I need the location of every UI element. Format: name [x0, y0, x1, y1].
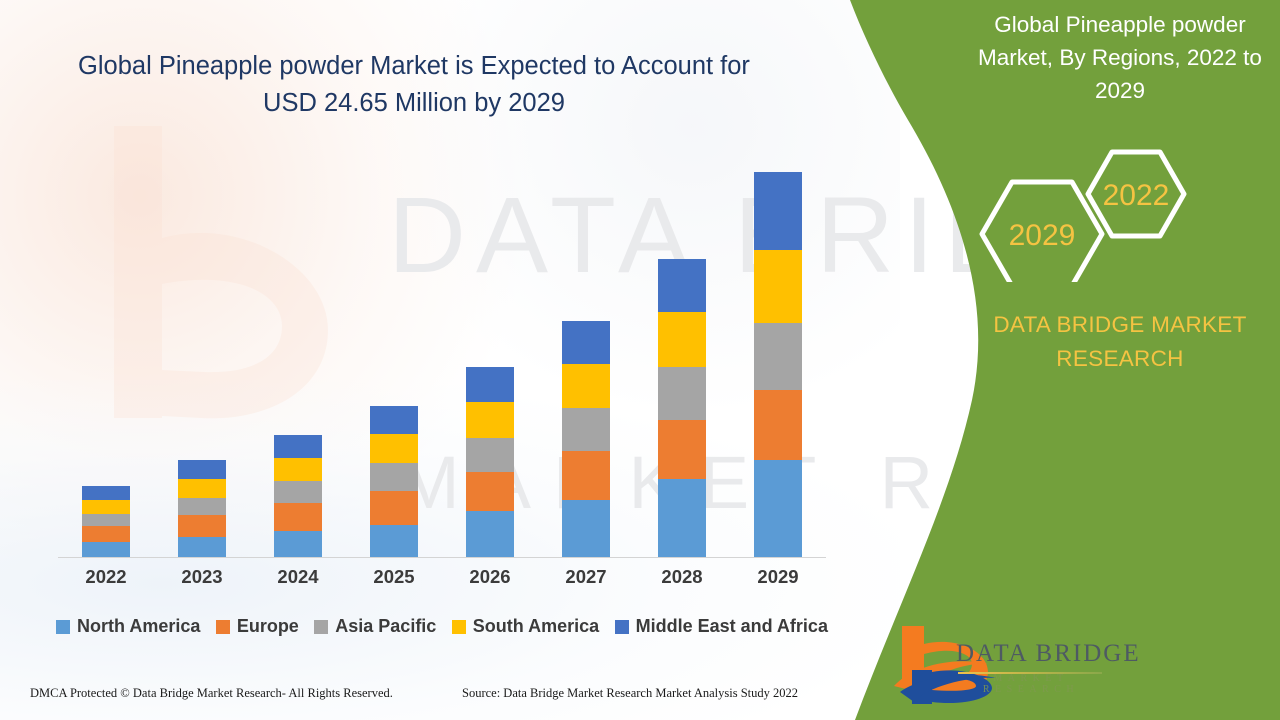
bar-segment[interactable]	[370, 525, 418, 557]
bar-segment[interactable]	[466, 511, 514, 557]
bar-column	[154, 160, 250, 557]
bar-segment[interactable]	[274, 531, 322, 557]
stacked-bar[interactable]	[178, 460, 226, 557]
bar-segment[interactable]	[466, 472, 514, 512]
x-axis-label: 2024	[250, 566, 346, 588]
bar-segment[interactable]	[562, 364, 610, 408]
bar-column	[634, 160, 730, 557]
bar-segment[interactable]	[754, 390, 802, 459]
bar-segment[interactable]	[658, 367, 706, 420]
bar-segment[interactable]	[370, 491, 418, 525]
legend-item[interactable]: South America	[452, 616, 599, 637]
x-axis-label: 2023	[154, 566, 250, 588]
bar-segment[interactable]	[658, 420, 706, 479]
logo-subtitle: MARKET RESEARCH	[958, 673, 1104, 695]
bar-column	[250, 160, 346, 557]
legend-item[interactable]: Middle East and Africa	[615, 616, 828, 637]
x-axis-label: 2027	[538, 566, 634, 588]
legend-swatch-icon	[56, 620, 70, 634]
bar-segment[interactable]	[82, 500, 130, 514]
legend-label: South America	[473, 616, 599, 637]
x-axis-label: 2026	[442, 566, 538, 588]
bar-segment[interactable]	[274, 481, 322, 503]
chart-legend: North AmericaEuropeAsia PacificSouth Ame…	[56, 616, 828, 637]
legend-label: Europe	[237, 616, 299, 637]
infographic-canvas: DATA BRIDGE MARKET RESEARCH Global Pinea…	[0, 0, 1280, 720]
x-axis-labels: 20222023202420252026202720282029	[58, 566, 826, 588]
bar-segment[interactable]	[178, 460, 226, 478]
legend-label: Asia Pacific	[335, 616, 436, 637]
hexagon-badges: 2022 2029	[960, 132, 1280, 282]
bar-segment[interactable]	[274, 435, 322, 458]
bar-segment[interactable]	[82, 542, 130, 557]
bar-segment[interactable]	[178, 498, 226, 515]
legend-label: North America	[77, 616, 200, 637]
legend-item[interactable]: Asia Pacific	[314, 616, 436, 637]
bar-group	[58, 160, 826, 557]
logo-wordmark: DATA BRIDGE	[956, 640, 1141, 668]
legend-item[interactable]: Europe	[216, 616, 299, 637]
legend-swatch-icon	[452, 620, 466, 634]
stacked-bar[interactable]	[466, 367, 514, 557]
stacked-bar[interactable]	[754, 172, 802, 557]
bar-segment[interactable]	[178, 537, 226, 557]
bar-segment[interactable]	[562, 451, 610, 500]
legend-label: Middle East and Africa	[636, 616, 828, 637]
right-green-panel: Global Pineapple powder Market, By Regio…	[830, 0, 1280, 720]
bar-column	[346, 160, 442, 557]
bar-column	[538, 160, 634, 557]
bar-segment[interactable]	[178, 479, 226, 498]
bar-segment[interactable]	[82, 486, 130, 499]
bar-segment[interactable]	[466, 402, 514, 437]
bar-segment[interactable]	[370, 406, 418, 434]
bar-segment[interactable]	[178, 515, 226, 537]
bar-segment[interactable]	[562, 408, 610, 451]
bar-segment[interactable]	[658, 479, 706, 557]
bar-segment[interactable]	[562, 500, 610, 557]
bar-segment[interactable]	[754, 323, 802, 391]
bar-segment[interactable]	[274, 503, 322, 531]
panel-title: Global Pineapple powder Market, By Regio…	[970, 8, 1270, 107]
footer-source: Source: Data Bridge Market Research Mark…	[462, 686, 798, 701]
hexagon-2022-label: 2022	[1103, 179, 1170, 212]
legend-swatch-icon	[216, 620, 230, 634]
bar-segment[interactable]	[658, 312, 706, 367]
x-axis-label: 2029	[730, 566, 826, 588]
bar-segment[interactable]	[370, 434, 418, 463]
bar-segment[interactable]	[562, 321, 610, 364]
bar-segment[interactable]	[82, 514, 130, 527]
x-axis-label: 2025	[346, 566, 442, 588]
legend-swatch-icon	[314, 620, 328, 634]
stacked-bar[interactable]	[274, 435, 322, 557]
bar-segment[interactable]	[658, 259, 706, 312]
bar-segment[interactable]	[754, 250, 802, 322]
legend-swatch-icon	[615, 620, 629, 634]
legend-item[interactable]: North America	[56, 616, 200, 637]
bar-segment[interactable]	[370, 463, 418, 491]
bar-column	[730, 160, 826, 557]
bar-segment[interactable]	[274, 458, 322, 482]
stacked-bar[interactable]	[82, 486, 130, 557]
x-axis-label: 2022	[58, 566, 154, 588]
chart-title: Global Pineapple powder Market is Expect…	[58, 48, 770, 122]
hexagon-2029-label: 2029	[1009, 219, 1076, 252]
bar-column	[442, 160, 538, 557]
x-axis-line	[58, 557, 826, 558]
stacked-bar[interactable]	[562, 321, 610, 557]
stacked-bar[interactable]	[658, 259, 706, 557]
bar-segment[interactable]	[82, 526, 130, 541]
bar-segment[interactable]	[754, 172, 802, 250]
bar-segment[interactable]	[466, 367, 514, 402]
bar-column	[58, 160, 154, 557]
footer-copyright: DMCA Protected © Data Bridge Market Rese…	[30, 686, 393, 701]
stacked-bar[interactable]	[370, 406, 418, 557]
bar-segment[interactable]	[754, 460, 802, 557]
stacked-bar-chart	[58, 160, 826, 558]
panel-brand-name: DATA BRIDGE MARKET RESEARCH	[970, 308, 1270, 376]
bar-segment[interactable]	[466, 438, 514, 472]
x-axis-label: 2028	[634, 566, 730, 588]
